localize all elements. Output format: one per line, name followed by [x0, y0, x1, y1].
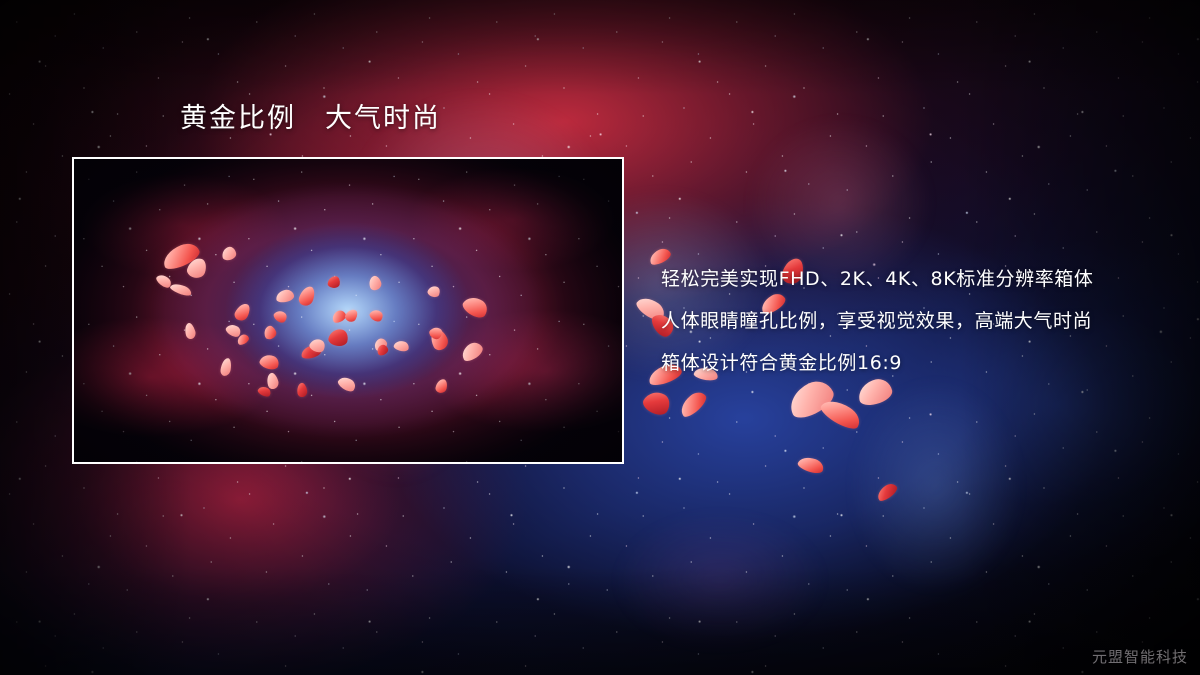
petal-shape — [640, 387, 674, 419]
petal-shape — [818, 394, 864, 433]
page-title: 黄金比例 大气时尚 — [180, 103, 441, 135]
watermark-label: 元盟智能科技 — [1092, 646, 1188, 667]
petal-shape — [796, 454, 825, 476]
petal-shape — [875, 481, 900, 503]
body-line: 轻松完美实现FHD、2K、4K、8K标准分辨率箱体 — [661, 258, 1173, 300]
body-line: 箱体设计符合黄金比例16:9 — [661, 342, 1173, 384]
body-text-block: 轻松完美实现FHD、2K、4K、8K标准分辨率箱体 人体眼睛瞳孔比例，享受视觉效… — [661, 258, 1173, 384]
framed-photo — [72, 157, 624, 464]
body-line: 人体眼睛瞳孔比例，享受视觉效果，高端大气时尚 — [661, 300, 1173, 342]
petal-shape — [676, 388, 709, 420]
presentation-slide: 黄金比例 大气时尚 轻松完美实现FHD、2K、4K、8K标准分辨率箱体 人体眼睛… — [0, 0, 1200, 675]
photo-content — [74, 159, 622, 462]
